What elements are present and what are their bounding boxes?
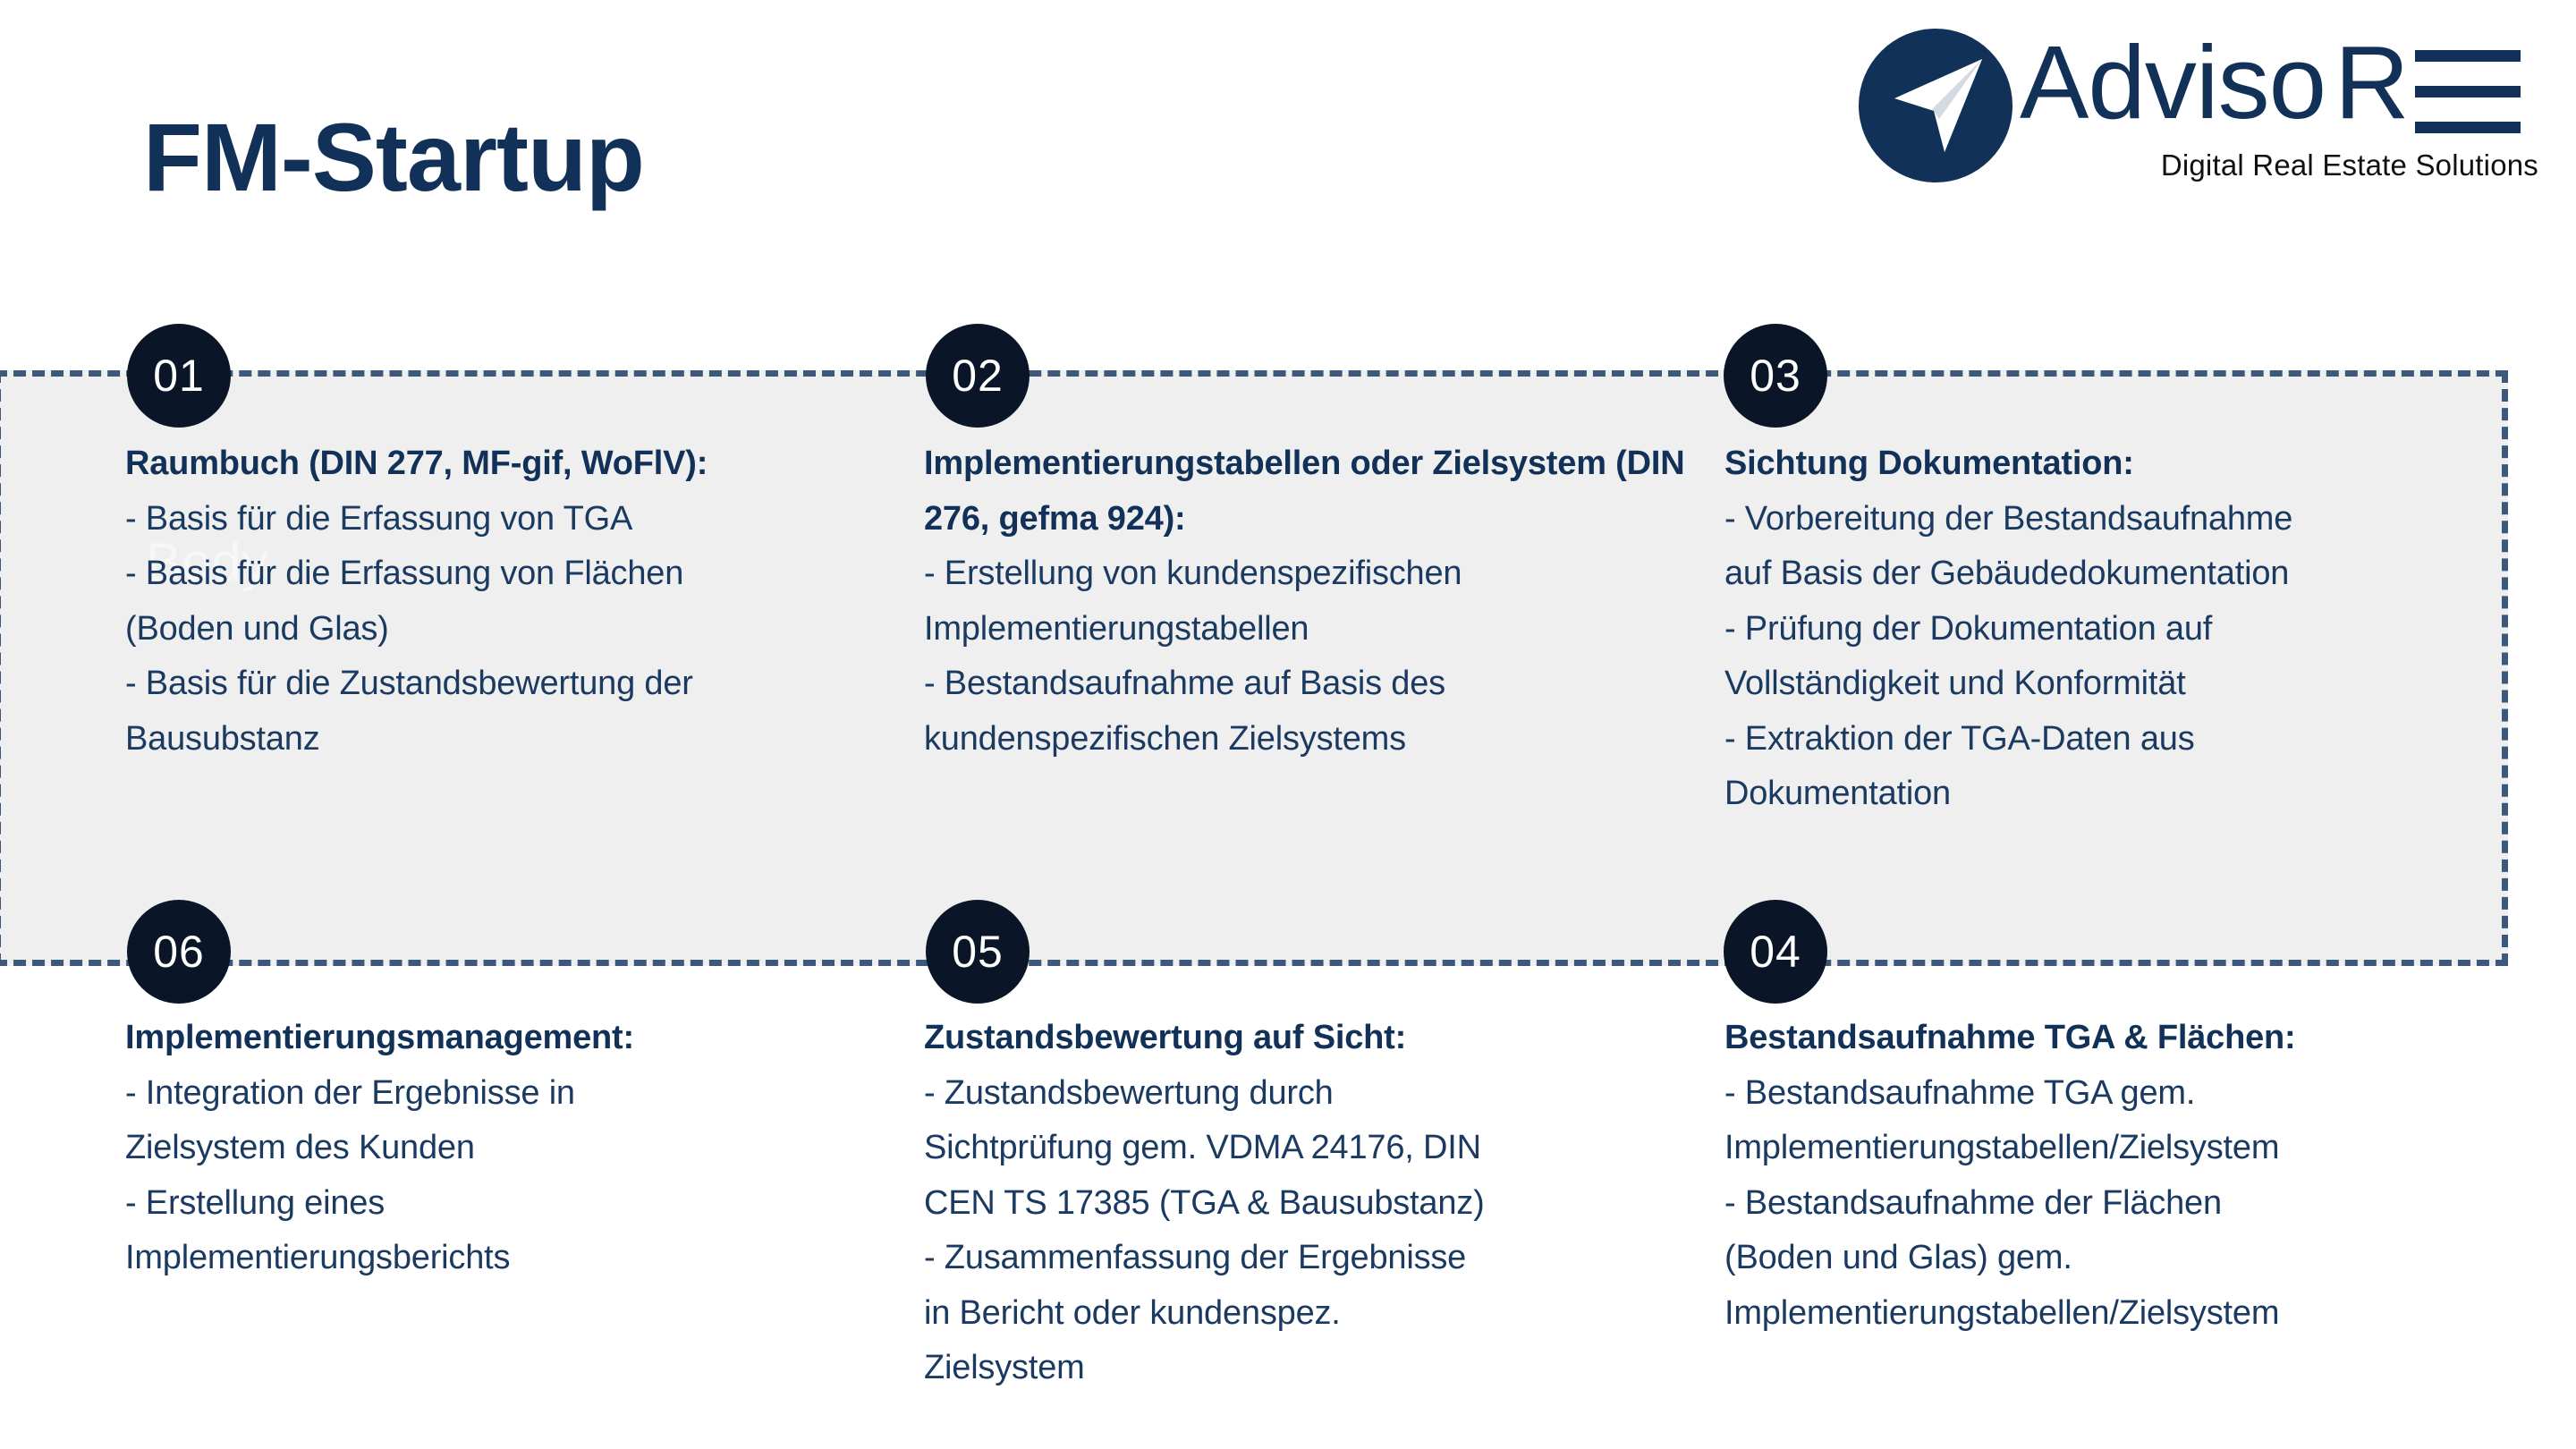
svg-text:R: R <box>2334 34 2410 140</box>
step-body-line: (Boden und Glas) gem. <box>1724 1231 2512 1286</box>
step-body-line: Vollständigkeit und Konformität <box>1724 657 2512 712</box>
step-heading-05: Zustandsbewertung auf Sicht: <box>924 1011 1711 1066</box>
step-body-05: - Zustandsbewertung durchSichtprüfung ge… <box>924 1066 1711 1396</box>
step-column-01: Raumbuch (DIN 277, MF-gif, WoFlV): - Bas… <box>125 436 912 767</box>
step-body-line: - Erstellung von kundenspezifischen <box>924 547 1711 602</box>
advisore-logo: Adviso R Digital Real Estate Solutions <box>1859 16 2538 204</box>
step-body-line: - Bestandsaufnahme der Flächen <box>1724 1176 2512 1232</box>
step-body-line: Zielsystem des Kunden <box>125 1121 912 1176</box>
slide-canvas: FM-Startup Adviso R Digital Real Estate … <box>0 0 2576 1449</box>
step-body-line: - Zusammenfassung der Ergebnisse <box>924 1231 1711 1286</box>
step-body-06: - Integration der Ergebnisse inZielsyste… <box>125 1066 912 1286</box>
step-body-02: - Erstellung von kundenspezifischenImple… <box>924 547 1711 767</box>
step-body-line: - Basis für die Erfassung von Flächen <box>125 547 912 602</box>
step-body-line: Implementierungstabellen <box>924 602 1711 657</box>
step-body-line: - Integration der Ergebnisse in <box>125 1066 912 1122</box>
step-heading-04: Bestandsaufnahme TGA & Flächen: <box>1724 1011 2512 1066</box>
step-body-line: in Bericht oder kundenspez. <box>924 1286 1711 1342</box>
step-badge-06[interactable]: 06 <box>127 900 231 1004</box>
step-body-line: - Extraktion der TGA-Daten aus <box>1724 712 2512 767</box>
step-body-line: - Bestandsaufnahme auf Basis des <box>924 657 1711 712</box>
logo-wordmark-text: Adviso <box>2020 34 2326 140</box>
step-body-01: - Basis für die Erfassung von TGA- Basis… <box>125 492 912 767</box>
step-body-line: Implementierungstabellen/Zielsystem <box>1724 1286 2512 1342</box>
step-body-line: Sichtprüfung gem. VDMA 24176, DIN <box>924 1121 1711 1176</box>
step-body-line: Dokumentation <box>1724 767 2512 822</box>
step-heading-01: Raumbuch (DIN 277, MF-gif, WoFlV): <box>125 436 912 492</box>
step-body-line: - Zustandsbewertung durch <box>924 1066 1711 1122</box>
page-title: FM-Startup <box>143 109 644 206</box>
step-column-02: Implementierungstabellen oder Zielsystem… <box>924 436 1711 767</box>
step-column-06: Implementierungsmanagement: - Integratio… <box>125 1011 912 1286</box>
step-body-line: Implementierungstabellen/Zielsystem <box>1724 1121 2512 1176</box>
step-badge-01[interactable]: 01 <box>127 324 231 428</box>
step-body-line: Zielsystem <box>924 1341 1711 1396</box>
step-body-line: - Erstellung eines <box>125 1176 912 1232</box>
step-body-line: Implementierungsberichts <box>125 1231 912 1286</box>
step-body-03: - Vorbereitung der Bestandsaufnahmeauf B… <box>1724 492 2512 822</box>
step-badge-02[interactable]: 02 <box>926 324 1030 428</box>
step-body-line: (Boden und Glas) <box>125 602 912 657</box>
step-body-line: CEN TS 17385 (TGA & Bausubstanz) <box>924 1176 1711 1232</box>
step-body-line: kundenspezifischen Zielsystems <box>924 712 1711 767</box>
step-heading-06: Implementierungsmanagement: <box>125 1011 912 1066</box>
step-body-line: - Prüfung der Dokumentation auf <box>1724 602 2512 657</box>
step-column-03: Sichtung Dokumentation: - Vorbereitung d… <box>1724 436 2512 822</box>
step-column-04: Bestandsaufnahme TGA & Flächen: - Bestan… <box>1724 1011 2512 1341</box>
step-badge-04[interactable]: 04 <box>1724 900 1827 1004</box>
step-badge-03[interactable]: 03 <box>1724 324 1827 428</box>
logo-wordmark: Adviso R <box>2020 34 2538 140</box>
step-body-line: - Basis für die Zustandsbewertung der <box>125 657 912 712</box>
step-body-04: - Bestandsaufnahme TGA gem.Implementieru… <box>1724 1066 2512 1342</box>
step-heading-03: Sichtung Dokumentation: <box>1724 436 2512 492</box>
step-heading-02: Implementierungstabellen oder Zielsystem… <box>924 436 1711 547</box>
logo-tagline: Digital Real Estate Solutions <box>2020 148 2538 182</box>
step-body-line: - Basis für die Erfassung von TGA <box>125 492 912 547</box>
step-body-line: auf Basis der Gebäudedokumentation <box>1724 547 2512 602</box>
step-badge-05[interactable]: 05 <box>926 900 1030 1004</box>
step-body-line: - Vorbereitung der Bestandsaufnahme <box>1724 492 2512 547</box>
step-column-05: Zustandsbewertung auf Sicht: - Zustandsb… <box>924 1011 1711 1396</box>
step-body-line: Bausubstanz <box>125 712 912 767</box>
navigation-arrow-icon <box>1859 29 2012 182</box>
step-body-line: - Bestandsaufnahme TGA gem. <box>1724 1066 2512 1122</box>
